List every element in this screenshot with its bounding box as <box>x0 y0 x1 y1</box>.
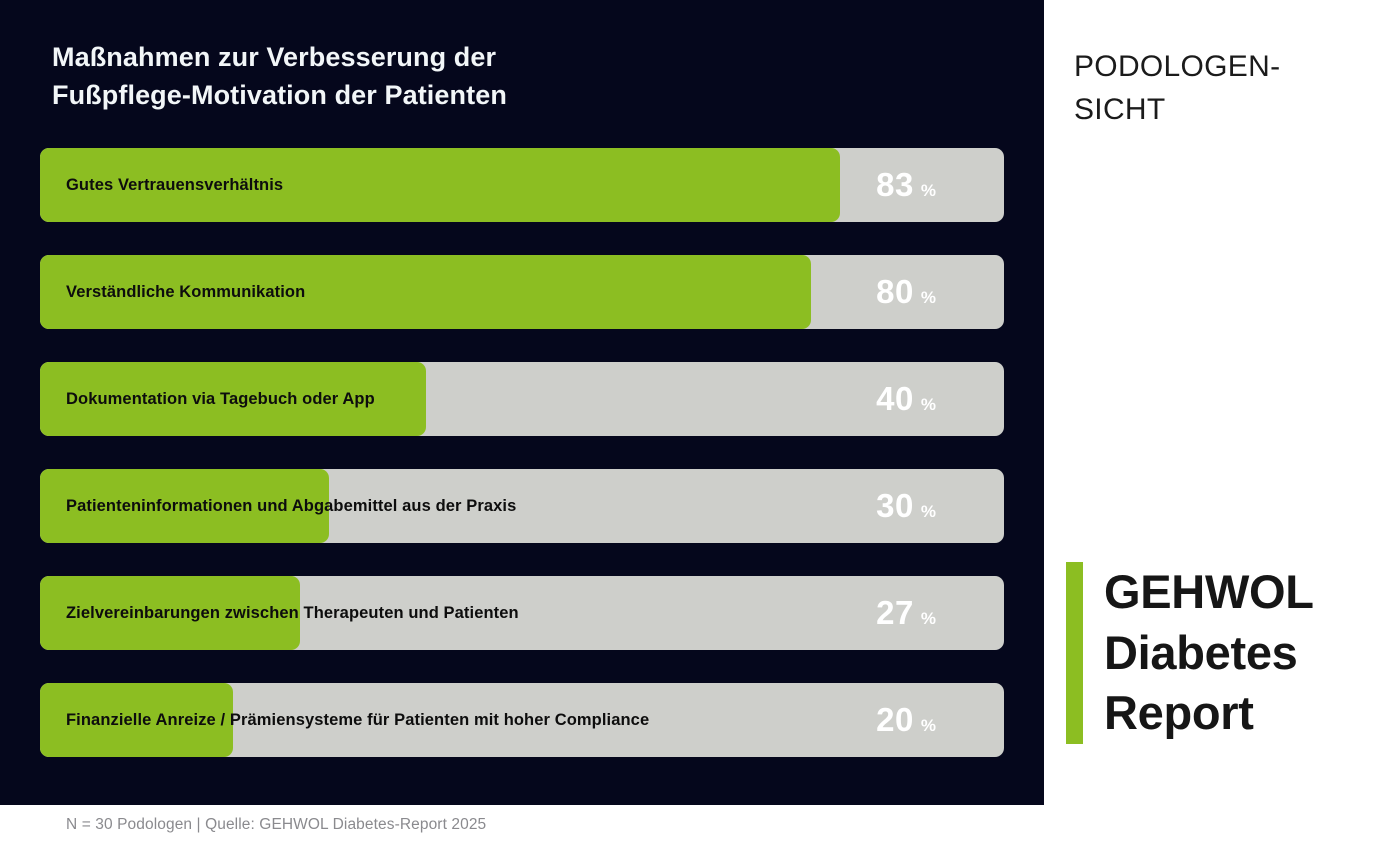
bar-label: Dokumentation via Tagebuch oder App <box>66 362 375 436</box>
brand-rail: PODOLOGEN- SICHT GEHWOL Diabetes Report <box>1044 0 1400 856</box>
bar-row: Patienteninformationen und Abgabemittel … <box>40 469 1004 543</box>
bar-label: Patienteninformationen und Abgabemittel … <box>66 469 516 543</box>
bar-label: Finanzielle Anreize / Prämiensysteme für… <box>66 683 649 757</box>
bar-row: Dokumentation via Tagebuch oder App 40 % <box>40 362 1004 436</box>
bar-row: Gutes Vertrauensverhältnis 83 % <box>40 148 1004 222</box>
brand-lockup: GEHWOL Diabetes Report <box>1066 562 1314 744</box>
audience-kicker: PODOLOGEN- SICHT <box>1074 46 1394 131</box>
bar-row: Zielvereinbarungen zwischen Therapeuten … <box>40 576 1004 650</box>
bar-row: Verständliche Kommunikation 80 % <box>40 255 1004 329</box>
brand-line-3: Report <box>1104 683 1314 744</box>
bar-row: Finanzielle Anreize / Prämiensysteme für… <box>40 683 1004 757</box>
brand-line-1: GEHWOL <box>1104 562 1314 623</box>
bar-label: Verständliche Kommunikation <box>66 255 305 329</box>
infographic-canvas: Maßnahmen zur Verbesserung der Fußpflege… <box>0 0 1400 856</box>
brand-accent-bar <box>1066 562 1083 744</box>
brand-line-2: Diabetes <box>1104 623 1314 684</box>
chart-panel: Maßnahmen zur Verbesserung der Fußpflege… <box>0 0 1044 805</box>
bar-chart: Gutes Vertrauensverhältnis 83 % Verständ… <box>40 148 1004 757</box>
source-note: N = 30 Podologen | Quelle: GEHWOL Diabet… <box>66 816 486 834</box>
bar-label: Gutes Vertrauensverhältnis <box>66 148 283 222</box>
page-title: Maßnahmen zur Verbesserung der Fußpflege… <box>52 38 982 115</box>
brand-wordmark: GEHWOL Diabetes Report <box>1104 562 1314 744</box>
bar-label: Zielvereinbarungen zwischen Therapeuten … <box>66 576 519 650</box>
